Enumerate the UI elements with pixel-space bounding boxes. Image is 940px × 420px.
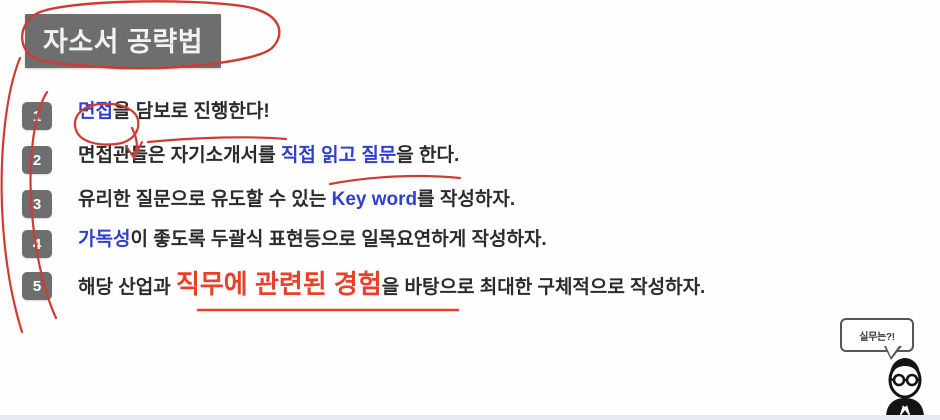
item-text: 면접관들은 자기소개서를 직접 읽고 질문을 한다. bbox=[78, 144, 459, 168]
item-highlight-blue: Key word bbox=[332, 189, 418, 210]
tips-list: 1 면접을 담보로 진행한다! 2 면접관들은 자기소개서를 직접 읽고 질문을… bbox=[22, 100, 922, 310]
item-highlight-red: 직무에 관련된 경험 bbox=[176, 269, 382, 299]
item-text: 유리한 질문으로 유도할 수 있는 Key word를 작성하자. bbox=[78, 188, 515, 212]
item-number-badge: 4 bbox=[22, 230, 52, 258]
item-plain-text: 면접관들은 자기소개서를 bbox=[78, 145, 281, 166]
list-item: 5 해당 산업과 직무에 관련된 경험을 바탕으로 최대한 구체적으로 작성하자… bbox=[22, 270, 922, 300]
item-plain-text: 을 바탕으로 최대한 구체적으로 작성하자. bbox=[382, 277, 706, 298]
item-highlight-blue: 직접 읽고 질문 bbox=[281, 145, 396, 166]
item-text: 가독성이 좋도록 두괄식 표현등으로 일목요연하게 작성하자. bbox=[78, 228, 547, 252]
speech-bubble-text: 실무는?! bbox=[859, 328, 895, 343]
item-number-badge: 5 bbox=[22, 272, 52, 300]
bottom-strip bbox=[0, 415, 940, 420]
page-title: 자소서 공략법 bbox=[25, 14, 221, 68]
item-number-badge: 3 bbox=[22, 190, 52, 218]
item-plain-text: 유리한 질문으로 유도할 수 있는 bbox=[78, 189, 332, 210]
item-plain-text: 을 담보로 진행한다! bbox=[113, 101, 270, 122]
item-number-badge: 2 bbox=[22, 146, 52, 174]
list-item: 1 면접을 담보로 진행한다! bbox=[22, 100, 922, 130]
list-item: 2 면접관들은 자기소개서를 직접 읽고 질문을 한다. bbox=[22, 144, 922, 174]
item-plain-text: 해당 산업과 bbox=[78, 277, 176, 298]
item-plain-text: 을 한다. bbox=[396, 145, 459, 166]
item-text: 면접을 담보로 진행한다! bbox=[78, 100, 270, 124]
left-sweep-ink bbox=[2, 58, 22, 332]
item-highlight-blue: 면접 bbox=[78, 101, 113, 122]
item-highlight-blue: 가독성 bbox=[78, 229, 130, 250]
speech-bubble: 실무는?! bbox=[840, 318, 914, 352]
slide-canvas: 자소서 공략법 1 면접을 담보로 진행한다! 2 면접관들은 자기소개서를 직… bbox=[0, 0, 940, 420]
list-item: 4 가독성이 좋도록 두괄식 표현등으로 일목요연하게 작성하자. bbox=[22, 228, 922, 258]
item-plain-text: 이 좋도록 두괄식 표현등으로 일목요연하게 작성하자. bbox=[130, 229, 546, 250]
item-text: 해당 산업과 직무에 관련된 경험을 바탕으로 최대한 구체적으로 작성하자. bbox=[78, 270, 705, 299]
list-item: 3 유리한 질문으로 유도할 수 있는 Key word를 작성하자. bbox=[22, 188, 922, 218]
avatar bbox=[872, 356, 938, 418]
item-number-badge: 1 bbox=[22, 102, 52, 130]
item-plain-text: 를 작성하자. bbox=[417, 189, 515, 210]
